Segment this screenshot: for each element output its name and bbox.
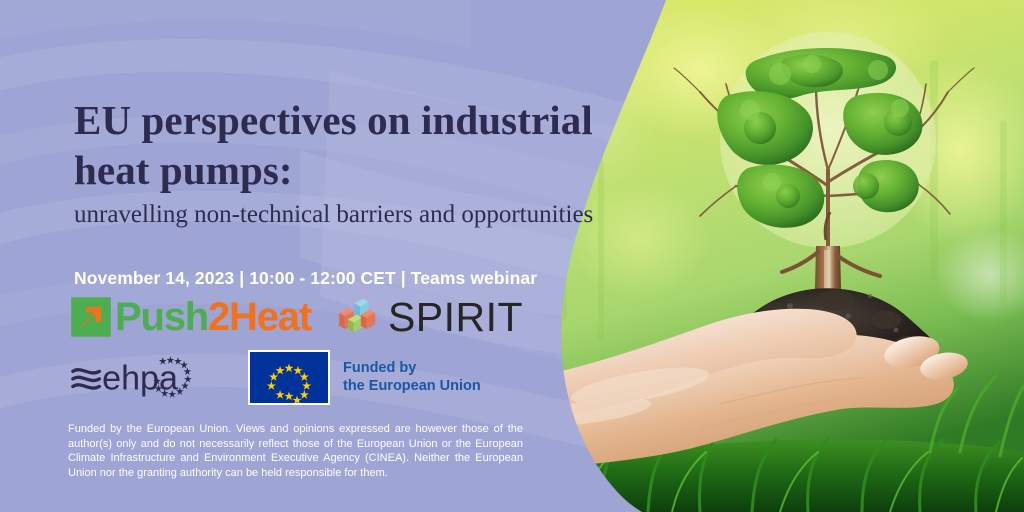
push2heat-word-push: Push <box>115 295 208 339</box>
eu-funding-line1: Funded by <box>343 359 481 377</box>
partner-logo-row-secondary: ehpa <box>70 352 481 402</box>
push2heat-word-2heat: 2Heat <box>208 295 311 339</box>
banner-title: EU perspectives on industrial heat pumps… <box>74 95 649 195</box>
push2heat-logo: Push2Heat <box>70 296 311 338</box>
ehpa-wordmark: ehpa <box>102 359 178 397</box>
eu-flag-icon <box>248 350 330 405</box>
webinar-banner: EU perspectives on industrial heat pumps… <box>0 0 1024 512</box>
spirit-logo: SPIRIT <box>336 297 523 338</box>
eu-funding-disclaimer: Funded by the European Union. Views and … <box>68 422 523 480</box>
eu-funding-logo: Funded by the European Union <box>248 350 481 405</box>
event-date-time-format: November 14, 2023 | 10:00 - 12:00 CET | … <box>74 268 537 289</box>
eu-funding-text: Funded by the European Union <box>343 359 481 395</box>
push2heat-arrow-icon <box>70 296 112 338</box>
spirit-wordmark: SPIRIT <box>388 297 523 338</box>
push2heat-wordmark: Push2Heat <box>115 297 311 337</box>
eu-funding-line2: the European Union <box>343 377 481 395</box>
partner-logo-row-primary: Push2Heat <box>70 292 523 342</box>
ehpa-logo: ehpa <box>70 354 212 400</box>
banner-subtitle: unravelling non-technical barriers and o… <box>74 198 594 231</box>
spirit-blocks-icon <box>336 297 384 337</box>
